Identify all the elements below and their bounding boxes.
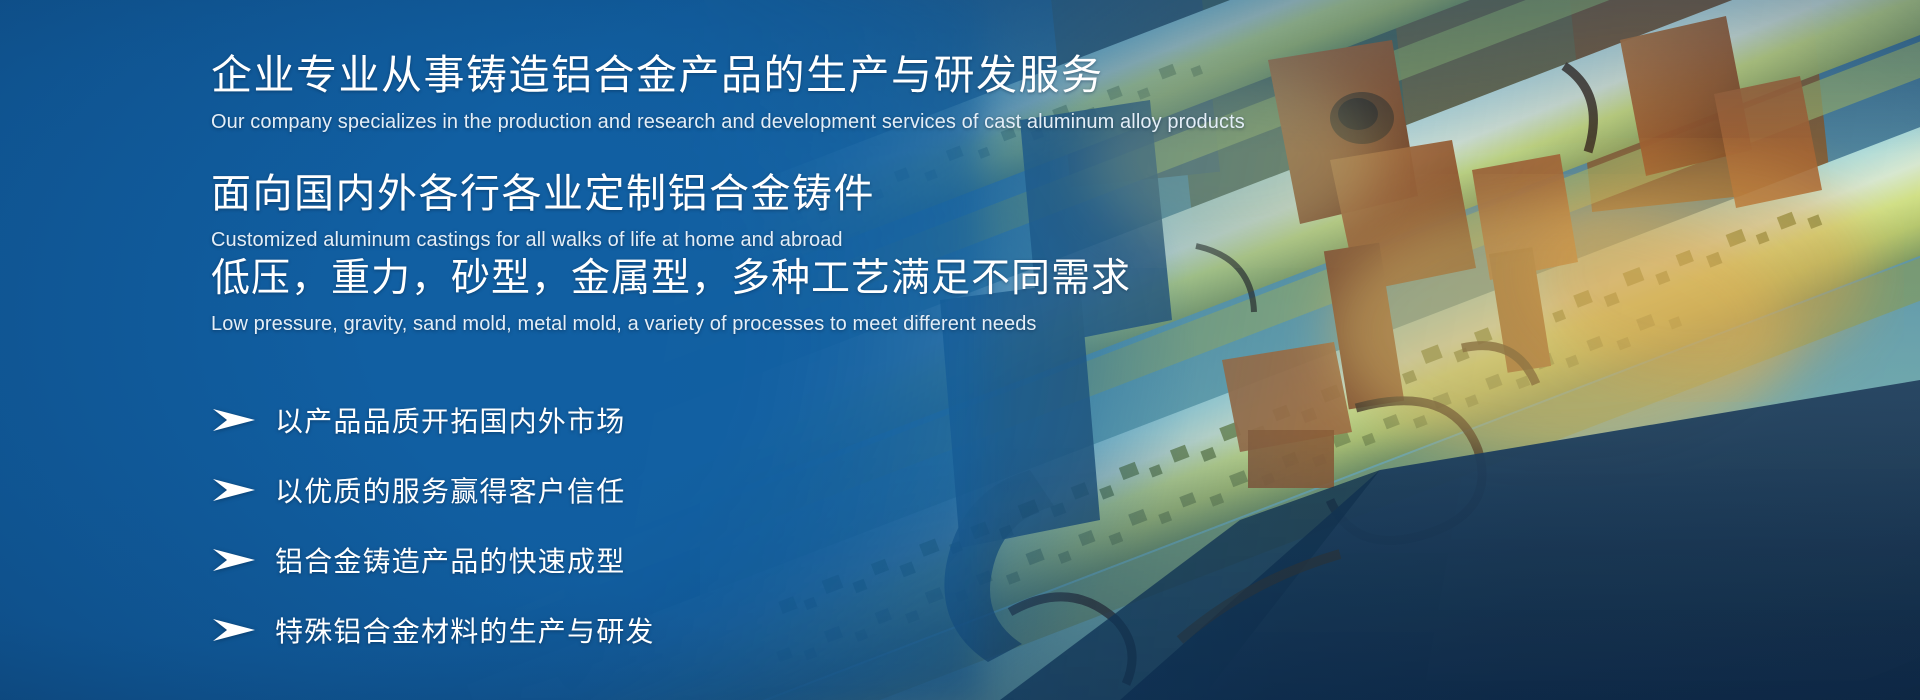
heading-1-cn: 企业专业从事铸造铝合金产品的生产与研发服务 bbox=[211, 53, 1245, 98]
list-item-label: 特殊铝合金材料的生产与研发 bbox=[275, 610, 655, 650]
list-item[interactable]: 铝合金铸造产品的快速成型 bbox=[211, 525, 655, 595]
arrow-right-icon bbox=[211, 547, 257, 573]
heading-group-1: 企业专业从事铸造铝合金产品的生产与研发服务 Our company specia… bbox=[211, 53, 1245, 134]
banner-content: 企业专业从事铸造铝合金产品的生产与研发服务 Our company specia… bbox=[211, 0, 1511, 700]
heading-2-cn: 面向国内外各行各业定制铝合金铸件 bbox=[211, 172, 875, 216]
heading-1-en: Our company specializes in the productio… bbox=[211, 110, 1245, 134]
list-item-label: 以产品品质开拓国内外市场 bbox=[275, 400, 625, 440]
hero-banner: 企业专业从事铸造铝合金产品的生产与研发服务 Our company specia… bbox=[0, 0, 1920, 700]
list-item[interactable]: 以优质的服务赢得客户信任 bbox=[211, 455, 655, 525]
feature-list: 以产品品质开拓国内外市场 以优质的服务赢得客户信任 铝合金铸造产品的快速成型 特… bbox=[211, 385, 655, 665]
list-item-label: 以优质的服务赢得客户信任 bbox=[275, 470, 625, 510]
arrow-right-icon bbox=[211, 407, 257, 433]
heading-group-3: 低压，重力，砂型，金属型，多种工艺满足不同需求 Low pressure, gr… bbox=[211, 258, 1131, 336]
heading-2-en: Customized aluminum castings for all wal… bbox=[211, 228, 875, 252]
heading-group-2: 面向国内外各行各业定制铝合金铸件 Customized aluminum cas… bbox=[211, 172, 875, 252]
heading-3-en: Low pressure, gravity, sand mold, metal … bbox=[211, 312, 1131, 336]
arrow-right-icon bbox=[211, 477, 257, 503]
list-item[interactable]: 以产品品质开拓国内外市场 bbox=[211, 385, 655, 455]
list-item[interactable]: 特殊铝合金材料的生产与研发 bbox=[211, 595, 655, 665]
list-item-label: 铝合金铸造产品的快速成型 bbox=[275, 540, 625, 580]
arrow-right-icon bbox=[211, 617, 257, 643]
heading-3-cn: 低压，重力，砂型，金属型，多种工艺满足不同需求 bbox=[211, 258, 1131, 301]
